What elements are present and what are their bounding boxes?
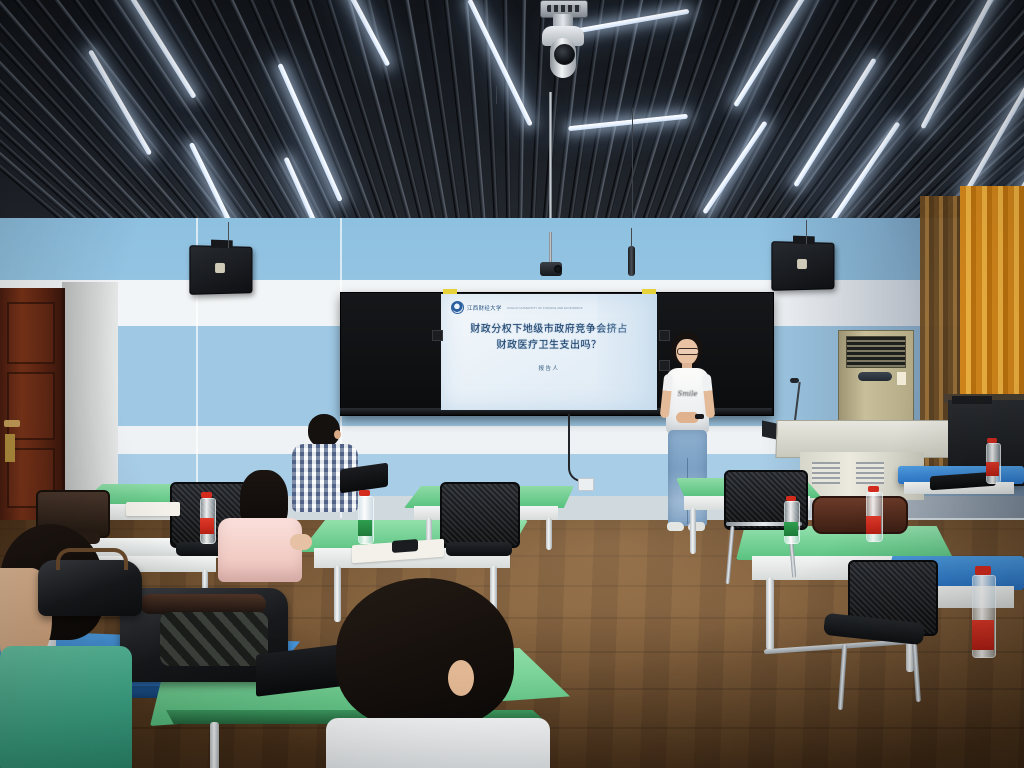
air-conditioner-grill <box>846 336 906 368</box>
chair-leg-frame <box>912 644 921 702</box>
door-lock-icon <box>5 434 15 462</box>
water-bottle-2 <box>358 490 372 542</box>
microphone-cable <box>631 228 632 248</box>
audience-pink-arm <box>290 534 312 550</box>
bottle-label <box>986 462 999 476</box>
phone-on-notebook <box>392 539 418 553</box>
chair-leg-frame <box>838 644 848 710</box>
handbag-handle <box>56 548 128 570</box>
bottle-label <box>866 516 881 534</box>
wall-mounted-camera <box>540 262 562 276</box>
audience-front-right-shirt <box>326 718 550 768</box>
water-bottle-5 <box>784 496 798 542</box>
podium-microphone-head <box>790 378 799 383</box>
desk-leg <box>690 508 696 554</box>
presentation-screen[interactable]: 江西财经大学 JIANGXI UNIVERSITY OF FINANCE AND… <box>441 294 657 410</box>
air-conditioner-label <box>897 372 906 385</box>
audience-pink <box>206 470 312 596</box>
door-handle[interactable] <box>4 420 20 427</box>
podium-port-panel-right[interactable] <box>856 462 884 484</box>
speaker-bracket <box>211 240 233 249</box>
chair-back <box>440 482 520 548</box>
side-monitor <box>952 396 992 404</box>
presenter-glasses-icon <box>677 348 699 355</box>
audience-pink-top <box>218 518 302 582</box>
wall-speaker-right <box>771 241 834 291</box>
speaker-cone <box>797 259 807 269</box>
chair-seat <box>446 542 512 556</box>
display-power-cable <box>568 414 594 482</box>
desk-leg <box>210 722 219 768</box>
screen-side-button-left[interactable] <box>432 330 443 341</box>
ceiling-slat <box>502 0 514 232</box>
camera-lens-icon <box>554 44 575 65</box>
water-bottle-3 <box>866 486 881 540</box>
chair-right-brown[interactable] <box>812 496 904 548</box>
ceiling-microphone <box>628 246 635 276</box>
speaker-wire-left <box>228 222 229 248</box>
slide-university-name: 江西财经大学 <box>467 304 502 312</box>
chair-back-center[interactable] <box>440 482 516 582</box>
backpack-strap <box>140 594 266 614</box>
wall-power-outlet[interactable] <box>578 478 594 491</box>
door-panel <box>7 372 55 440</box>
screen-glare <box>597 294 657 410</box>
ceiling-wire-2 <box>496 86 497 104</box>
door-panel <box>7 302 55 364</box>
water-bottle-1 <box>200 492 214 542</box>
bottle-label <box>784 522 798 536</box>
bottle-label <box>200 518 214 534</box>
chair-back <box>812 496 908 534</box>
audience-front-left-shirt <box>0 646 132 768</box>
backpack-camo-panel <box>160 612 268 666</box>
classroom-photo: 江西财经大学 JIANGXI UNIVERSITY OF FINANCE AND… <box>0 0 1024 768</box>
speaker-wire-right <box>806 220 807 244</box>
audience-ear <box>334 430 341 439</box>
slide-university-subtitle: JIANGXI UNIVERSITY OF FINANCE AND ECONOM… <box>507 306 583 310</box>
bottle-label <box>972 620 994 650</box>
university-seal-logo-icon <box>451 301 464 314</box>
bottle-label <box>358 520 372 536</box>
presentation-clicker <box>695 414 704 419</box>
papers-stack-left <box>126 502 180 516</box>
slide-logo: 江西财经大学 JIANGXI UNIVERSITY OF FINANCE AND… <box>451 301 583 314</box>
wall-camera-rod <box>549 232 552 264</box>
audience-front-right-hair <box>336 578 514 728</box>
ceiling-drop-rod <box>549 92 552 234</box>
speaker-bracket <box>793 236 815 245</box>
chair-right-front[interactable] <box>824 560 940 720</box>
desk-leg <box>546 518 552 550</box>
water-bottle-6 <box>986 438 999 482</box>
air-conditioner-control-panel[interactable] <box>858 372 892 381</box>
audience-front-right-ear <box>448 660 474 696</box>
ptz-camera <box>534 0 590 92</box>
speaker-cone <box>215 263 225 273</box>
ceiling-wire <box>632 108 633 230</box>
chair-leg-frame <box>725 526 734 584</box>
water-bottle-4 <box>972 566 994 656</box>
audience-front-right <box>326 578 550 768</box>
wall-speaker-left <box>189 245 252 295</box>
bottle-cap <box>975 566 991 575</box>
ceiling <box>0 0 1024 232</box>
